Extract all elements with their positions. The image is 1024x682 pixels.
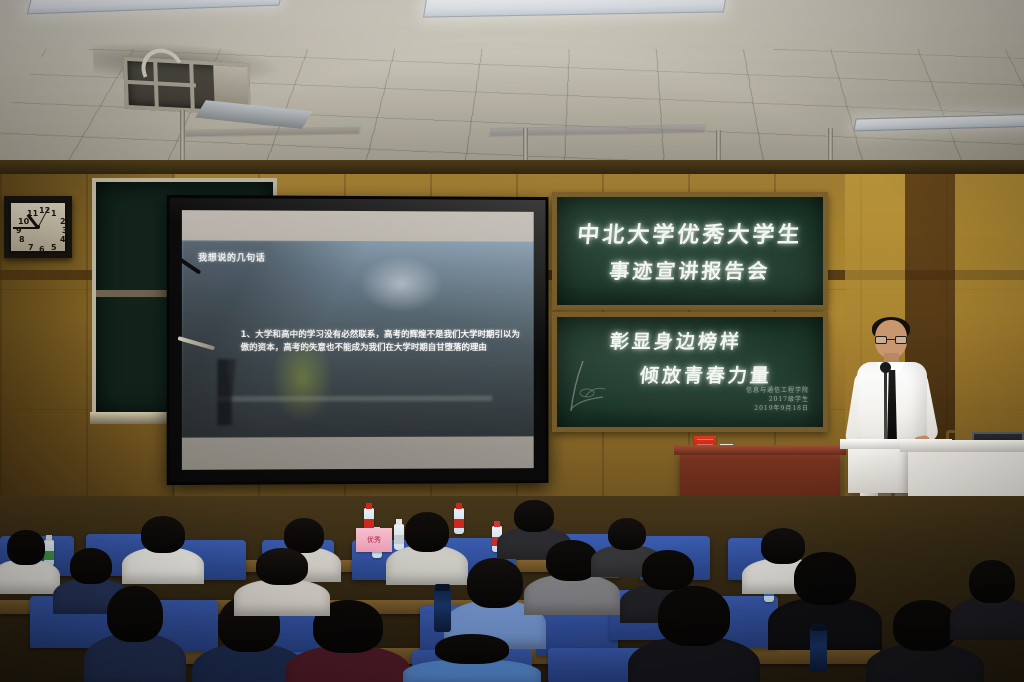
audience-head	[435, 634, 510, 664]
chalk-flourish-icon	[563, 353, 637, 415]
chalk-ledge	[553, 427, 828, 432]
audience-head	[642, 550, 694, 590]
thermos-bottle	[434, 588, 451, 632]
audience-member	[456, 558, 534, 638]
audience-member	[96, 586, 174, 676]
blackboard-title-line2: 事迹宣讲报告会	[556, 255, 825, 284]
audience-name-card: 优秀	[356, 528, 392, 552]
audience-head	[467, 558, 523, 608]
audience-card-text: 优秀	[367, 535, 381, 545]
lens-right	[895, 336, 907, 344]
audience-head	[658, 586, 730, 646]
audience-head	[405, 512, 450, 552]
audience-member	[132, 516, 194, 576]
chalk-dust	[557, 197, 823, 305]
bottle-cap	[366, 503, 372, 509]
lecture-hall-scene: 12 1 2 3 4 5 6 7 8 9 10 11 我想说的几句话 1、大学和…	[0, 0, 1024, 682]
blackboard-title-line1: 中北大学优秀大学生	[556, 217, 825, 249]
clock-numeral: 4	[60, 236, 66, 244]
thermos-bottle	[810, 628, 827, 672]
presentation-slide: 我想说的几句话 1、大学和高中的学习没有必然联系，高考的辉煌不是我们大学时期引以…	[182, 240, 534, 437]
glasses-bridge	[887, 339, 895, 340]
audience-head	[794, 552, 856, 605]
bottle-cap	[456, 503, 462, 509]
desk-top	[674, 445, 846, 455]
slide-photo-detail	[218, 359, 492, 426]
audience-head	[969, 560, 1015, 603]
audience-head	[107, 586, 163, 642]
audience-head	[7, 530, 44, 565]
blackboard-top: 中北大学优秀大学生 事迹宣讲报告会	[552, 192, 828, 310]
audience-head	[546, 540, 598, 581]
audience-head	[70, 548, 112, 584]
clock-numeral: 3	[62, 227, 68, 235]
clock-numeral: 8	[19, 236, 25, 244]
clock-numeral: 6	[39, 246, 45, 254]
clock-numeral: 5	[51, 244, 57, 252]
audience-head	[893, 600, 958, 651]
clock-minute-hand	[13, 227, 38, 229]
cabinet-top	[900, 440, 1024, 452]
screen-surface: 我想说的几句话 1、大学和高中的学习没有必然联系，高考的辉煌不是我们大学时期引以…	[182, 210, 534, 470]
audience-member	[420, 634, 524, 682]
audience-head	[608, 518, 647, 550]
audience-head	[141, 516, 186, 553]
audience-member	[246, 548, 318, 608]
blackboard-signature: 信息与通信工程学院 2017级学生 2019年9月18日	[746, 386, 809, 413]
wall-baseboard	[0, 160, 1024, 174]
lens-left	[875, 336, 887, 344]
audience-member	[0, 530, 52, 586]
clock-numeral: 7	[28, 244, 34, 252]
clock-numeral: 10	[18, 218, 29, 226]
projection-screen[interactable]: 我想说的几句话 1、大学和高中的学习没有必然联系，高考的辉煌不是我们大学时期引以…	[167, 195, 549, 485]
blackboard-bottom: 彰显身边榜样 倾放青春力量 信息与通信工程学院 2017级学生 2019年9月1…	[552, 312, 828, 432]
audience-member	[644, 586, 744, 682]
glasses-icon	[875, 336, 907, 344]
microphone[interactable]	[884, 368, 887, 446]
thermos-cap	[811, 624, 826, 631]
clock-numeral: 2	[60, 218, 66, 226]
clock-center-pin	[36, 225, 40, 229]
clock-numeral: 1	[51, 210, 57, 218]
audience-head	[256, 548, 308, 585]
audience-head	[514, 500, 554, 532]
audience-member	[960, 560, 1024, 630]
bottle-cap	[494, 521, 500, 527]
wall-clock: 12 1 2 3 4 5 6 7 8 9 10 11	[4, 196, 72, 258]
bottle-label	[364, 519, 374, 528]
microphone-head	[880, 362, 891, 373]
slide-header: 我想说的几句话	[198, 250, 265, 263]
audience-member	[396, 512, 458, 576]
blackboard-slogan-line1: 彰显身边榜样	[552, 327, 810, 354]
slide-body-text: 1、大学和高中的学习没有必然联系，高考的辉煌不是我们大学时期引以为傲的资本，高考…	[241, 329, 520, 355]
thermos-cap	[435, 584, 450, 591]
